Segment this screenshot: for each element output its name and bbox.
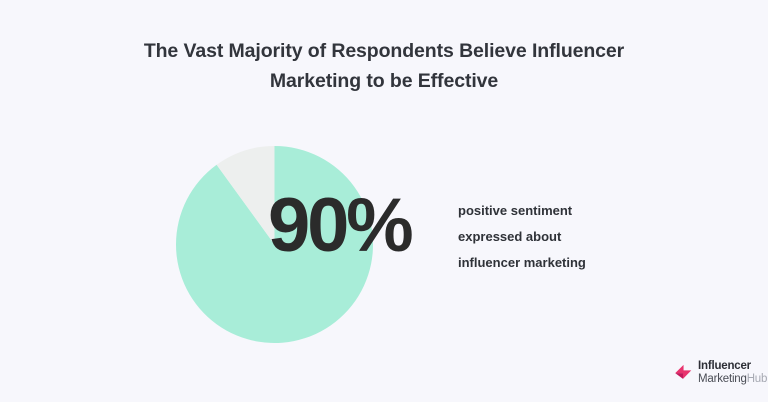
page-title: The Vast Majority of Respondents Believe…: [0, 36, 768, 96]
annotation-line-3: influencer marketing: [458, 250, 648, 276]
stat-value: 90%: [268, 186, 411, 266]
brand-logo: Influencer MarketingHub: [672, 358, 767, 388]
title-line-1: The Vast Majority of Respondents Believe…: [0, 36, 768, 66]
logo-text-marketing: Marketing: [698, 373, 747, 385]
stat-annotation: positive sentiment expressed about influ…: [458, 198, 648, 276]
annotation-line-2: expressed about: [458, 224, 648, 250]
logo-text-hub: Hub: [747, 373, 768, 385]
logo-text-marketinghub: MarketingHub: [698, 373, 767, 386]
logo-text-influencer: Influencer: [698, 360, 767, 373]
infographic-canvas: The Vast Majority of Respondents Believe…: [0, 0, 768, 402]
annotation-line-1: positive sentiment: [458, 198, 648, 224]
logo-wordmark: Influencer MarketingHub: [698, 360, 767, 386]
title-line-2: Marketing to be Effective: [0, 66, 768, 96]
logo-arrow-icon: [672, 362, 694, 384]
